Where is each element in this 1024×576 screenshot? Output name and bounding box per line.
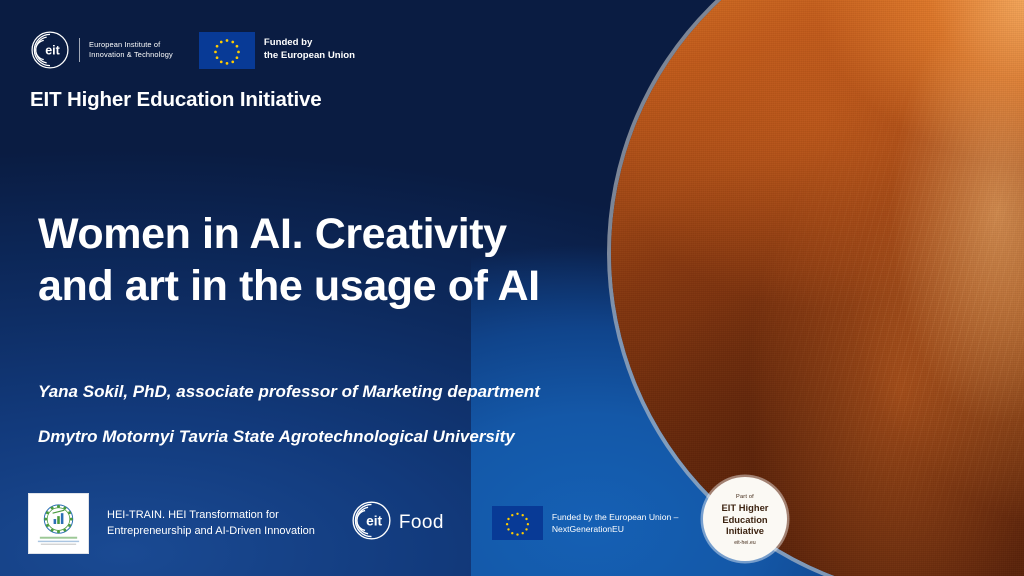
footer-eu-line-1: Funded by the European Union – — [552, 512, 679, 522]
eit-logo-lockup: eit European Institute of Innovation & T… — [30, 30, 173, 70]
badge-title-line-1: EIT Higher — [722, 502, 769, 513]
eit-hei-round-badge: Part of EIT Higher Education Initiative … — [703, 477, 787, 561]
eit-logo-tagline: European Institute of Innovation & Techn… — [89, 40, 173, 60]
eit-food-wordmark: Food — [399, 512, 444, 534]
eit-logo-icon: eit — [30, 30, 70, 70]
header-logo-bar: eit European Institute of Innovation & T… — [30, 30, 355, 70]
presenter-name: Yana Sokil, PhD, associate professor of … — [38, 381, 628, 404]
badge-part-of-label: Part of — [736, 494, 754, 500]
title-line-1: Women in AI. Creativity — [38, 210, 507, 258]
project-line-1: HEI-TRAIN. HEI Transformation for — [107, 509, 279, 521]
badge-title-line-2: Education — [722, 514, 767, 525]
brand-line: EIT Higher Education Initiative — [30, 88, 322, 112]
title-slide: eit European Institute of Innovation & T… — [0, 0, 1024, 576]
title-line-2: and art in the usage of AI — [38, 262, 540, 310]
svg-text:eit: eit — [366, 514, 382, 529]
badge-url: eit-hei.eu — [734, 540, 756, 546]
eu-funding-lockup: Funded by the European Union — [199, 32, 355, 69]
presenter-organisation: Dmytro Motornyi Tavria State Agrotechnol… — [38, 426, 628, 449]
eu-funding-line1: Funded by — [264, 37, 313, 48]
project-line-2: Entrepreneurship and AI-Driven Innovatio… — [107, 525, 315, 537]
footer-eu-funding-lockup: Funded by the European Union – NextGener… — [492, 506, 679, 540]
footer-eu-funding-text: Funded by the European Union – NextGener… — [552, 511, 679, 535]
european-union-flag-icon — [199, 32, 255, 69]
svg-text:eit: eit — [45, 44, 60, 58]
badge-title: EIT Higher Education Initiative — [722, 502, 769, 538]
eit-tagline-line1: European Institute of — [89, 40, 160, 49]
page-title: Women in AI. Creativity and art in the u… — [38, 209, 618, 312]
footer-eu-line-2: NextGenerationEU — [552, 524, 624, 534]
hei-train-project-logo-icon — [28, 493, 89, 554]
hero-photo-grain — [611, 0, 1024, 576]
eit-food-logo: eit Food — [351, 500, 444, 546]
hero-photo-circle — [611, 0, 1024, 576]
logo-divider — [79, 38, 80, 62]
footer-bar: HEI-TRAIN. HEI Transformation for Entrep… — [28, 492, 1024, 554]
eu-funding-text: Funded by the European Union — [264, 37, 355, 62]
presenter-block: Yana Sokil, PhD, associate professor of … — [38, 381, 628, 448]
project-name-text: HEI-TRAIN. HEI Transformation for Entrep… — [107, 507, 315, 539]
european-union-flag-icon-footer — [492, 506, 543, 540]
eit-tagline-line2: Innovation & Technology — [89, 50, 173, 59]
badge-title-line-3: Initiative — [726, 525, 764, 536]
eu-funding-line2: the European Union — [264, 50, 355, 61]
eit-food-mark-icon: eit — [351, 500, 392, 546]
